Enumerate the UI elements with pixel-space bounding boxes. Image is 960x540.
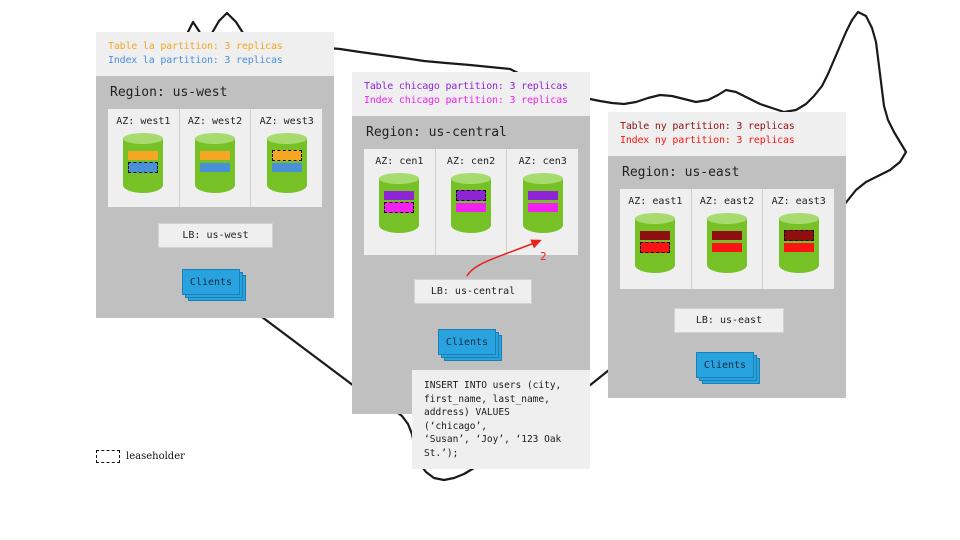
cylinder-top: [707, 213, 747, 224]
load-balancer-us-east[interactable]: LB: us-east: [674, 308, 784, 333]
dashed-rectangle-icon: [96, 450, 120, 463]
node-cylinder-west2[interactable]: [195, 133, 235, 195]
region-title: Region: us-central: [352, 116, 590, 149]
az-row: AZ: east1 AZ: east2: [620, 189, 834, 289]
partition-line-index: Index la partition: 3 replicas: [108, 54, 324, 68]
az-label: AZ: west1: [116, 116, 170, 127]
replica-bars: [456, 191, 486, 215]
region-body-us-west: Region: us-west AZ: west1 AZ: west2: [96, 76, 334, 318]
az-label: AZ: east1: [628, 196, 682, 207]
node-cylinder-east1[interactable]: [635, 213, 675, 275]
replica-bar-index-leaseholder: [640, 242, 670, 253]
replica-bar-index-leaseholder: [384, 202, 414, 213]
replica-bars: [528, 191, 558, 215]
az-east2[interactable]: AZ: east2: [692, 189, 764, 289]
partition-line-table: Table chicago partition: 3 replicas: [364, 80, 580, 94]
replica-bars: [128, 151, 158, 175]
legend-label: leaseholder: [126, 451, 185, 462]
region-header-us-west: Table la partition: 3 replicas Index la …: [96, 32, 334, 76]
az-east3[interactable]: AZ: east3: [763, 189, 834, 289]
az-label: AZ: cen2: [447, 156, 495, 167]
partition-line-table: Table la partition: 3 replicas: [108, 40, 324, 54]
clients-button-us-west[interactable]: Clients: [182, 269, 238, 293]
cylinder-top: [779, 213, 819, 224]
partition-line-index: Index chicago partition: 3 replicas: [364, 94, 580, 108]
arrow-label-2: 2: [540, 250, 547, 263]
replica-bars: [272, 151, 302, 175]
az-label: AZ: east3: [772, 196, 826, 207]
replica-bar-index: [200, 163, 230, 172]
az-east1[interactable]: AZ: east1: [620, 189, 692, 289]
replica-bar-table-leaseholder: [456, 190, 486, 201]
replica-bars: [384, 191, 414, 215]
replica-bars: [784, 231, 814, 255]
clients-button-us-central[interactable]: Clients: [438, 329, 494, 353]
cylinder-top: [451, 173, 491, 184]
clients-label: Clients: [438, 329, 496, 355]
legend-leaseholder: leaseholder: [96, 450, 185, 463]
node-cylinder-west1[interactable]: [123, 133, 163, 195]
region-body-us-east: Region: us-east AZ: east1 AZ: east2: [608, 156, 846, 398]
region-panel-us-west: Table la partition: 3 replicas Index la …: [96, 32, 334, 318]
replica-bar-index: [272, 163, 302, 172]
region-header-us-central: Table chicago partition: 3 replicas Inde…: [352, 72, 590, 116]
replica-bar-table: [128, 151, 158, 160]
cylinder-top: [267, 133, 307, 144]
replica-bar-table: [200, 151, 230, 160]
diagram-canvas: Table la partition: 3 replicas Index la …: [0, 0, 960, 540]
replica-bars: [712, 231, 742, 255]
replica-bar-index: [712, 243, 742, 252]
region-title: Region: us-west: [96, 76, 334, 109]
node-cylinder-cen2[interactable]: [451, 173, 491, 235]
replica-bar-table: [384, 191, 414, 200]
az-cen1[interactable]: AZ: cen1: [364, 149, 436, 255]
replica-bar-table: [640, 231, 670, 240]
routing-arrow-to-cen3: [455, 228, 565, 283]
partition-line-table: Table ny partition: 3 replicas: [620, 120, 836, 134]
az-label: AZ: west2: [188, 116, 242, 127]
region-panel-us-east: Table ny partition: 3 replicas Index ny …: [608, 112, 846, 398]
load-balancer-us-west[interactable]: LB: us-west: [158, 223, 273, 248]
node-cylinder-east3[interactable]: [779, 213, 819, 275]
replica-bar-index: [528, 203, 558, 212]
az-label: AZ: east2: [700, 196, 754, 207]
az-label: AZ: cen3: [519, 156, 567, 167]
cylinder-top: [523, 173, 563, 184]
replica-bar-table: [712, 231, 742, 240]
clients-label: Clients: [182, 269, 240, 295]
clients-button-us-east[interactable]: Clients: [696, 352, 752, 376]
az-label: AZ: west3: [260, 116, 314, 127]
az-west1[interactable]: AZ: west1: [108, 109, 180, 207]
replica-bar-index: [784, 243, 814, 252]
cylinder-top: [195, 133, 235, 144]
replica-bar-table-leaseholder: [272, 150, 302, 161]
az-label: AZ: cen1: [375, 156, 423, 167]
az-west3[interactable]: AZ: west3: [251, 109, 322, 207]
az-row: AZ: west1 AZ: west2: [108, 109, 322, 207]
replica-bar-table-leaseholder: [784, 230, 814, 241]
node-cylinder-east2[interactable]: [707, 213, 747, 275]
region-header-us-east: Table ny partition: 3 replicas Index ny …: [608, 112, 846, 156]
node-cylinder-west3[interactable]: [267, 133, 307, 195]
az-west2[interactable]: AZ: west2: [180, 109, 252, 207]
region-title: Region: us-east: [608, 156, 846, 189]
node-cylinder-cen1[interactable]: [379, 173, 419, 235]
node-cylinder-cen3[interactable]: [523, 173, 563, 235]
replica-bars: [200, 151, 230, 175]
clients-label: Clients: [696, 352, 754, 378]
sql-statement-box: INSERT INTO users (city, first_name, las…: [412, 370, 590, 469]
replica-bars: [640, 231, 670, 255]
partition-line-index: Index ny partition: 3 replicas: [620, 134, 836, 148]
replica-bar-table: [528, 191, 558, 200]
replica-bar-index-leaseholder: [128, 162, 158, 173]
replica-bar-index: [456, 203, 486, 212]
